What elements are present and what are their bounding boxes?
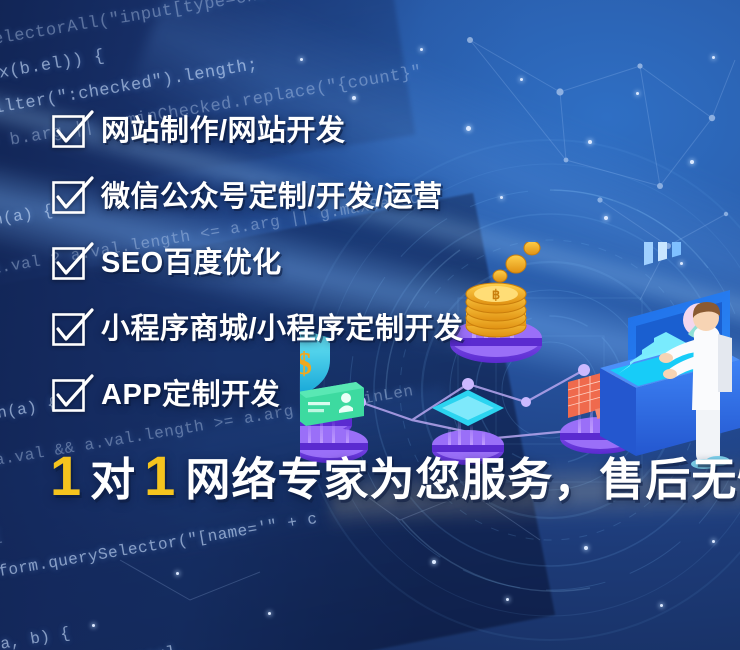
feature-label: 网站制作/网站开发 xyxy=(101,117,346,146)
feature-item-seo[interactable]: SEO百度优化 xyxy=(52,230,692,296)
checkbox-checked-icon[interactable] xyxy=(52,181,85,214)
checkbox-checked-icon[interactable] xyxy=(52,313,85,346)
feature-label: APP定制开发 xyxy=(101,381,280,410)
feature-item-wechat[interactable]: 微信公众号定制/开发/运营 xyxy=(52,164,692,230)
headline: 1 对 1 网络专家为您服务，售后无忧！ xyxy=(50,448,740,504)
feature-list: 网站制作/网站开发 微信公众号定制/开发/运营 SEO百度优化 xyxy=(52,98,692,428)
headline-tail: 网络专家为您服务，售后无忧！ xyxy=(185,457,740,502)
checkbox-checked-icon[interactable] xyxy=(52,379,85,412)
feature-item-website[interactable]: 网站制作/网站开发 xyxy=(52,98,692,164)
feature-item-miniprogram[interactable]: 小程序商城/小程序定制开发 xyxy=(52,296,692,362)
checkbox-checked-icon[interactable] xyxy=(52,247,85,280)
feature-label: 小程序商城/小程序定制开发 xyxy=(101,315,464,344)
feature-item-app[interactable]: APP定制开发 xyxy=(52,362,692,428)
headline-number-first: 1 xyxy=(50,448,81,504)
headline-connector: 对 xyxy=(90,457,135,502)
promo-banner: g.querySelectorAll("input[type=checkbox]… xyxy=(0,0,740,650)
feature-label: 微信公众号定制/开发/运营 xyxy=(101,183,443,212)
feature-label: SEO百度优化 xyxy=(101,249,282,278)
checkbox-checked-icon[interactable] xyxy=(52,115,85,148)
headline-number-second: 1 xyxy=(144,448,175,504)
